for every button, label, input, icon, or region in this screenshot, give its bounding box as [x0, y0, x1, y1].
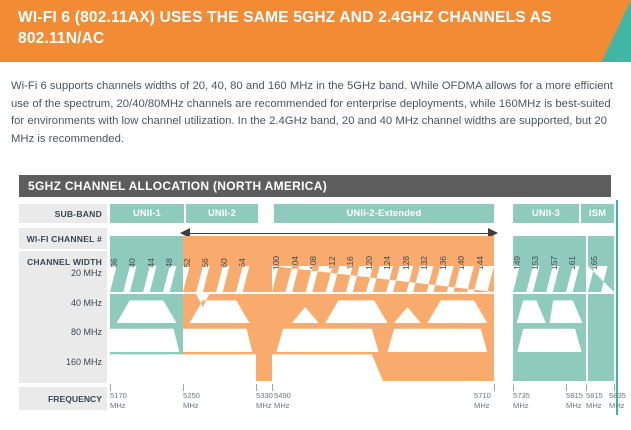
freq-unit: MHz: [183, 401, 199, 410]
freq-unit: MHz: [110, 401, 126, 410]
row-label-subband: SUB-BAND: [55, 209, 107, 219]
freq-label: 5735 MHz: [513, 391, 530, 410]
subband-unii2-extended: UNII-2-Extended: [274, 204, 494, 223]
bar-40-unii2: [183, 294, 256, 323]
bar-160-ism: [588, 352, 614, 381]
channel-group-unii2-extended: 100 104 108 112 116 120 124 128 132 136 …: [272, 236, 494, 266]
freq-value: 5815: [586, 391, 603, 400]
freq-tick: [614, 384, 615, 391]
freq-tick: [566, 384, 567, 391]
bar-40-ism: [588, 294, 614, 323]
bar-80-ism: [588, 323, 614, 352]
subband-unii3: UNII-3: [513, 204, 579, 223]
freq-unit: MHz: [513, 401, 529, 410]
freq-tick: [494, 384, 495, 391]
freq-unit: MHz: [256, 401, 272, 410]
bar-160-unii2e: [272, 352, 494, 381]
freq-value: 5835: [609, 391, 626, 400]
bar-80-unii2e: [272, 323, 494, 352]
bar-40-unii3: [513, 294, 586, 323]
bar-80-gap: [256, 323, 272, 352]
bar-160-unii1-mask: [110, 352, 183, 381]
bar-160-unii3: [513, 352, 586, 381]
channel-group-unii1: 36 40 44 48: [110, 236, 183, 266]
bar-20-unii2e: [272, 266, 494, 292]
channel-group-unii2: 52 56 60 64: [183, 236, 256, 266]
freq-value: 5735: [513, 391, 530, 400]
bar-160-unii2: [183, 352, 256, 381]
bar-40-unii1: [110, 294, 183, 323]
freq-tick: [513, 384, 514, 391]
width-row-160mhz: [0, 352, 631, 381]
freq-label: 5170 MHz: [110, 391, 127, 410]
freq-tick: [183, 384, 184, 391]
bar-80-unii1: [110, 323, 183, 352]
freq-label: 5250 MHz: [183, 391, 200, 410]
freq-tick: [110, 384, 111, 391]
channel-gap-block: [256, 236, 272, 266]
subband-ism: ISM: [581, 204, 614, 223]
bar-20-unii2: [183, 266, 256, 292]
row-label-channel: WI-FI CHANNEL #: [27, 234, 107, 244]
freq-value: 5170: [110, 391, 127, 400]
subband-unii1: UNII-1: [110, 204, 184, 223]
freq-unit: MHz: [274, 401, 290, 410]
bar-20-gap: [256, 266, 272, 292]
width-row-40mhz: [0, 294, 631, 323]
freq-label: 5710 MHz: [474, 391, 491, 410]
bar-160-gap: [256, 352, 272, 381]
bar-40-gap: [256, 294, 272, 323]
freq-tick: [586, 384, 587, 391]
freq-tick: [256, 384, 257, 391]
width-row-80mhz: [0, 323, 631, 352]
bar-80-unii2: [183, 323, 256, 352]
freq-unit: MHz: [474, 401, 490, 410]
subband-unii2: UNII-2: [186, 204, 258, 223]
bar-20-unii1: [110, 266, 183, 292]
freq-label: 5835 MHz: [609, 391, 626, 410]
freq-value: 5490: [274, 391, 291, 400]
channel-allocation-chart: 5GHz Channel Allocation (North America) …: [0, 175, 631, 430]
freq-label: 5815 MHz: [586, 391, 603, 410]
channel-group-ism: 165: [588, 236, 614, 266]
corner-accent-shape: [589, 0, 631, 62]
intro-paragraph: Wi-Fi 6 supports channels widths of 20, …: [11, 78, 619, 148]
freq-unit: MHz: [609, 401, 625, 410]
page-header: Wi-Fi 6 (802.11ax) uses the same 5GHz an…: [0, 0, 631, 62]
width-row-20mhz: [0, 266, 631, 292]
freq-label: 5330 MHz: [256, 391, 273, 410]
freq-label: 5815 MHz: [566, 391, 583, 410]
freq-label: 5490 MHz: [274, 391, 291, 410]
channel-group-unii3: 149 153 157 161: [513, 236, 586, 266]
chart-title: 5GHz Channel Allocation (North America): [19, 175, 611, 197]
freq-unit: MHz: [586, 401, 602, 410]
dfs-arrow-line: [185, 233, 493, 234]
frequency-axis: 5170 MHz 5250 MHz 5330 MHz 5490 MHz 5710…: [0, 381, 631, 411]
bar-20-ism: [588, 266, 614, 292]
freq-value: 5815: [566, 391, 583, 400]
bar-20-unii3: [513, 266, 586, 292]
freq-value: 5250: [183, 391, 200, 400]
freq-unit: MHz: [566, 401, 582, 410]
freq-value: 5330: [256, 391, 273, 400]
page-root: Wi-Fi 6 (802.11ax) uses the same 5GHz an…: [0, 0, 631, 430]
bar-40-unii2e: [272, 294, 494, 323]
bar-80-unii3: [513, 323, 586, 352]
freq-tick: [272, 384, 273, 391]
freq-value: 5710: [474, 391, 491, 400]
page-title: Wi-Fi 6 (802.11ax) uses the same 5GHz an…: [18, 7, 571, 49]
header-divider: [0, 62, 631, 65]
